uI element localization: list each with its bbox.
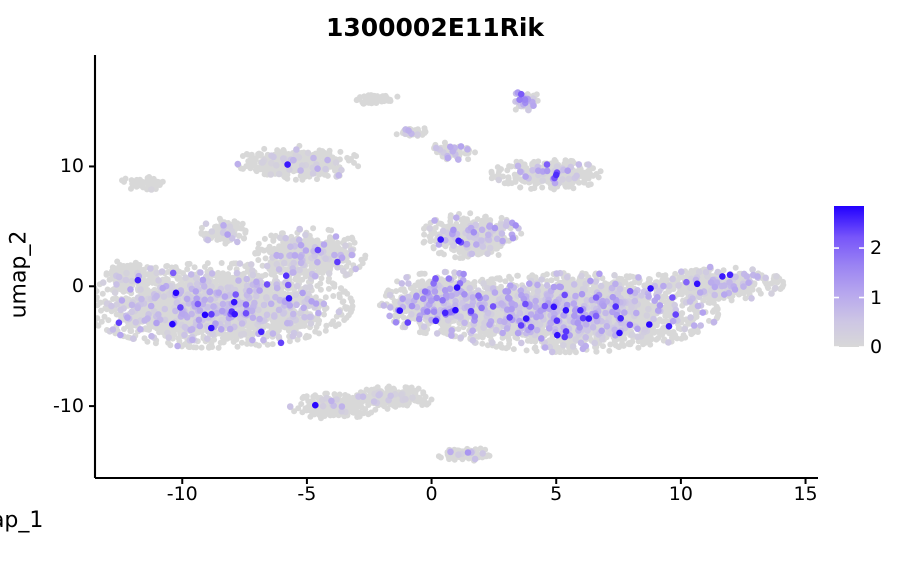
colorbar-tick-label: 2	[870, 237, 882, 259]
x-axis-label-text: umap_1	[0, 508, 43, 533]
x-tick-label: 5	[550, 483, 562, 505]
figure-canvas: 1300002E11Rik umap_1 umap_2 -10-	[0, 0, 911, 562]
x-tick-label: -10	[167, 483, 198, 505]
scatter-plot-svg	[0, 0, 911, 562]
x-tick-label: 15	[793, 483, 817, 505]
colorbar-tick-label: 0	[870, 336, 882, 358]
colorbar-layer	[834, 206, 864, 347]
x-axis-label: umap_1	[0, 508, 911, 533]
colorbar-tick-label: 1	[870, 287, 882, 309]
x-tick-label: -5	[297, 483, 316, 505]
x-tick-label: 10	[669, 483, 693, 505]
y-tick-label: 10	[10, 155, 84, 177]
y-tick-label: -10	[10, 395, 84, 417]
data-points-layer	[79, 89, 787, 463]
y-tick-label: 0	[10, 275, 84, 297]
x-tick-label: 0	[426, 483, 438, 505]
